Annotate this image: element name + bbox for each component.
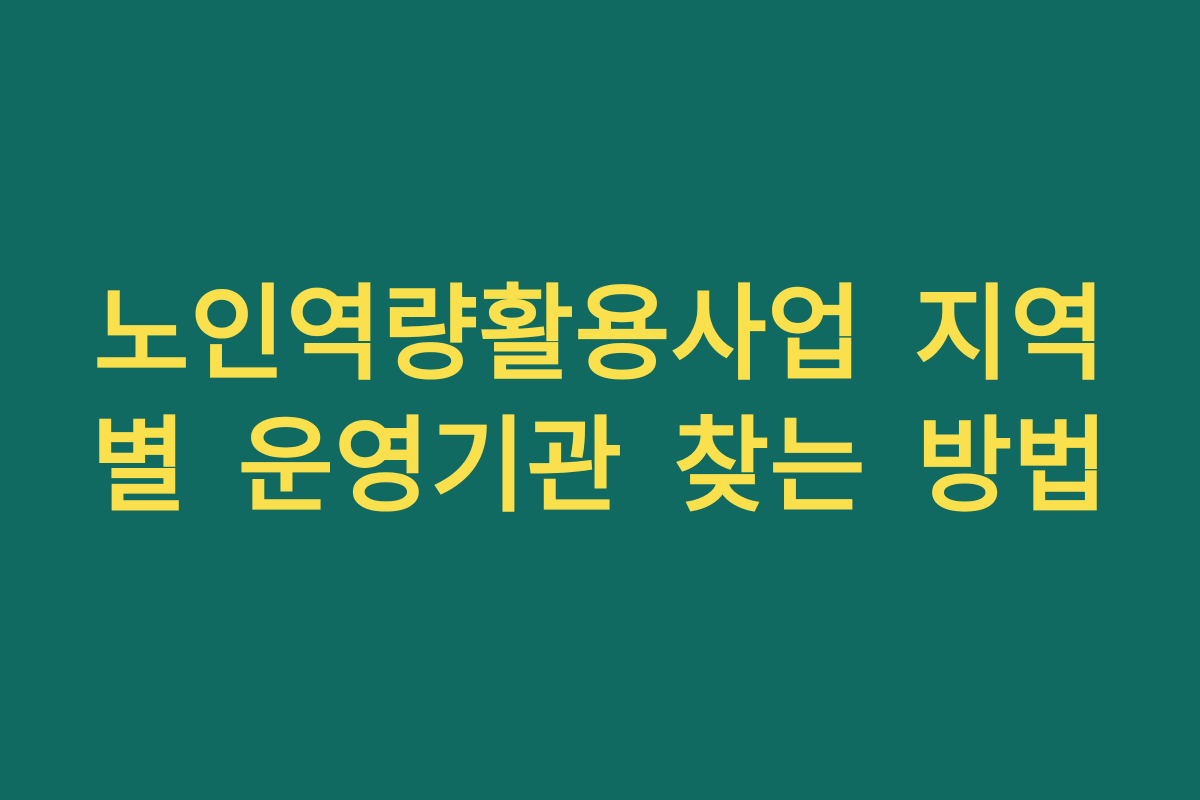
headline-line-2: 별 운영기관 찾는 방법 <box>91 400 1109 532</box>
banner-canvas: 노인역량활용사업 지역 별 운영기관 찾는 방법 <box>0 0 1200 800</box>
headline-line-1: 노인역량활용사업 지역 <box>94 268 1107 400</box>
headline-block: 노인역량활용사업 지역 별 운영기관 찾는 방법 <box>95 268 1105 532</box>
